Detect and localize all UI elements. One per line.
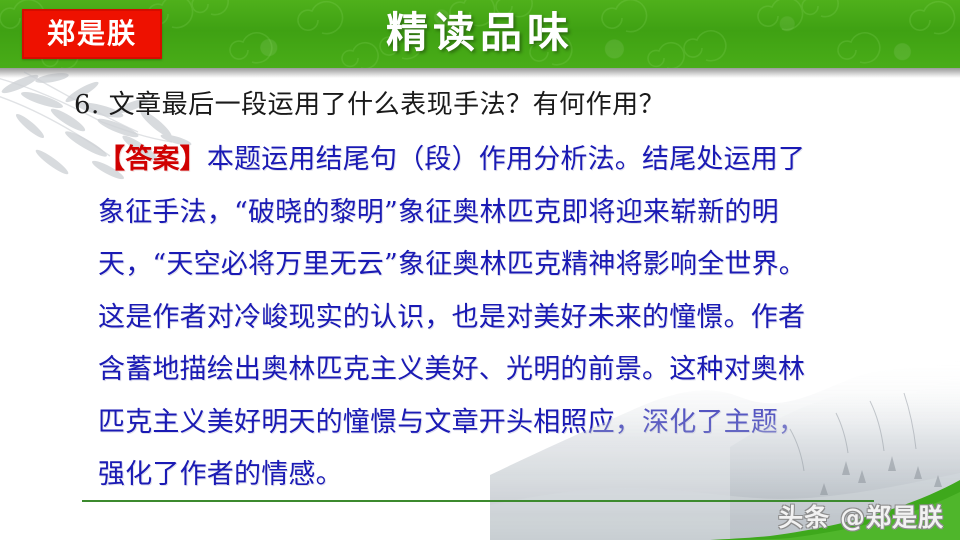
slide: 郑是朕 精读品味 6 [0,0,960,540]
answer-line-text: 本题运用结尾句（段）作用分析法。结尾处运用了 [207,144,805,175]
answer-block: 【答案】本题运用结尾句（段）作用分析法。结尾处运用了 象征手法，“破晓的黎明”象… [98,134,898,502]
answer-line: 天，“天空必将万里无云”象征奥林匹克精神将影响全世界。 [98,239,898,292]
answer-line: 匹克主义美好明天的憧憬与文章开头相照应，深化了主题， [98,397,898,450]
footer-rule [82,500,874,502]
slide-header: 郑是朕 精读品味 [0,0,960,68]
answer-line: 含蓄地描绘出奥林匹克主义美好、光明的前景。这种对奥林 [98,344,898,397]
answer-line: 象征手法，“破晓的黎明”象征奥林匹克即将迎来崭新的明 [98,187,898,240]
answer-tag-label: 【答案】 [98,144,207,175]
question-text: 6. 文章最后一段运用了什么表现手法？有何作用？ [74,84,665,121]
answer-line: 这是作者对冷峻现实的认识，也是对美好未来的憧憬。作者 [98,292,898,345]
answer-line: 强化了作者的情感。 [98,449,898,502]
page-title: 精读品味 [0,3,960,63]
answer-line: 【答案】本题运用结尾句（段）作用分析法。结尾处运用了 [98,134,898,187]
watermark-label: 头条 @郑是朕 [778,498,944,534]
header-divider [0,68,960,78]
